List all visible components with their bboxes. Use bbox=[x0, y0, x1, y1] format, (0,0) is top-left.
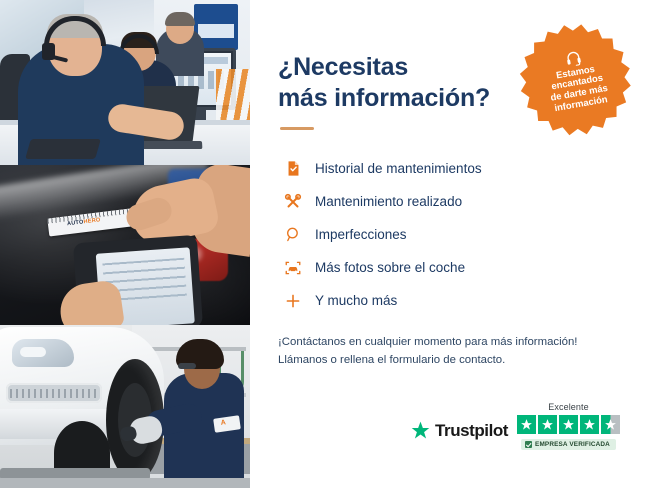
trustpilot-logo[interactable]: Trustpilot bbox=[410, 420, 508, 450]
trustpilot-star-icon bbox=[410, 420, 431, 441]
front-grille bbox=[6, 383, 102, 403]
contact-line-2: Llámanos o rellena el formulario de cont… bbox=[278, 354, 505, 366]
safety-glasses-icon bbox=[178, 363, 196, 369]
call-center-agents-photo bbox=[0, 0, 250, 165]
feature-item-imperfecciones: Imperfecciones bbox=[278, 218, 650, 251]
star-3 bbox=[559, 415, 578, 434]
car-inspection-ruler-photo: AUTOHERO bbox=[0, 165, 250, 325]
verified-check-icon bbox=[525, 441, 532, 448]
contact-line-1: ¡Contáctanos en cualquier momento para m… bbox=[278, 336, 577, 348]
workshop-floor bbox=[0, 478, 250, 488]
feature-label: Historial de mantenimientos bbox=[308, 161, 482, 176]
content-panel: ¿Necesitas más información? Historial de… bbox=[250, 0, 650, 488]
feature-item-mantenimiento: Mantenimiento realizado bbox=[278, 185, 650, 218]
verified-company-badge: EMPRESA VERIFICADA bbox=[521, 439, 616, 450]
star-rating bbox=[517, 415, 620, 434]
star-1 bbox=[517, 415, 536, 434]
headlight bbox=[12, 339, 74, 367]
trustpilot-block[interactable]: Trustpilot Excelente EMPRESA VERIFICADA bbox=[410, 402, 620, 450]
star-5-half bbox=[601, 415, 620, 434]
verified-label: EMPRESA VERIFICADA bbox=[535, 441, 610, 448]
trustpilot-wordmark: Trustpilot bbox=[435, 421, 508, 441]
promo-banner: AUTOHERO bbox=[0, 0, 650, 488]
mechanic-wheel-photo bbox=[0, 325, 250, 488]
document-check-icon bbox=[278, 160, 308, 177]
trustpilot-rating: Excelente EMPRESA VERIFICADA bbox=[517, 402, 620, 450]
rating-label: Excelente bbox=[548, 402, 588, 412]
feature-label: Mantenimiento realizado bbox=[308, 194, 462, 209]
feature-item-historial: Historial de mantenimientos bbox=[278, 152, 650, 185]
car-scan-icon bbox=[278, 259, 308, 277]
feature-label: Imperfecciones bbox=[308, 227, 407, 242]
feature-item-fotos: Más fotos sobre el coche bbox=[278, 251, 650, 284]
feature-list: Historial de mantenimientos Mantenimient… bbox=[278, 152, 650, 317]
starburst-shape bbox=[506, 10, 648, 152]
info-badge: Estamos encantados de darte más informac… bbox=[506, 10, 648, 152]
desk-tablet bbox=[25, 139, 101, 159]
photo-column: AUTOHERO bbox=[0, 0, 250, 488]
feature-label: Y mucho más bbox=[308, 293, 397, 308]
contact-text: ¡Contáctanos en cualquier momento para m… bbox=[278, 333, 650, 370]
page-title-line2: más información? bbox=[278, 84, 490, 112]
star-2 bbox=[538, 415, 557, 434]
feature-label: Más fotos sobre el coche bbox=[308, 260, 465, 275]
title-divider bbox=[280, 127, 314, 130]
tools-cross-icon bbox=[278, 193, 308, 211]
star-4 bbox=[580, 415, 599, 434]
page-title-line1: ¿Necesitas bbox=[278, 53, 408, 81]
feature-item-mucho-mas: Y mucho más bbox=[278, 284, 650, 317]
magnifier-icon bbox=[278, 226, 308, 243]
agent-background-hair bbox=[165, 12, 195, 26]
plus-icon bbox=[278, 292, 308, 310]
